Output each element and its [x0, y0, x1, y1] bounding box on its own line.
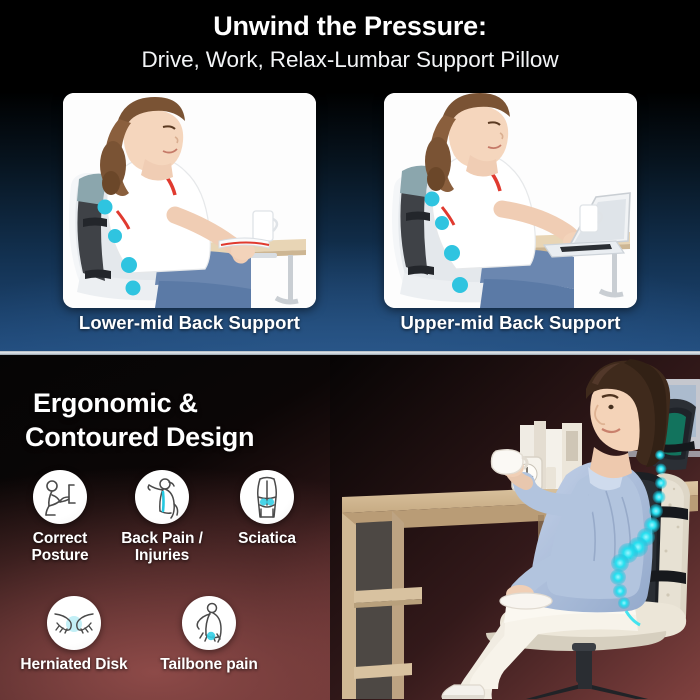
product-infographic: Unwind the Pressure: Drive, Work, Relax-… [0, 0, 700, 700]
benefits-grid: Correct Posture [0, 470, 340, 695]
spine-dot [121, 257, 137, 273]
benefit-label: Tailbone pain [148, 656, 270, 673]
spine-dot [108, 229, 122, 243]
benefit-label: Herniated Disk [16, 656, 132, 673]
photo-card-lower-mid [63, 93, 316, 308]
benefit-label: Sciatica [222, 530, 312, 547]
caption-lower-mid: Lower-mid Back Support [63, 312, 316, 334]
spine-dot [126, 281, 141, 296]
back-pain-icon [135, 470, 189, 524]
top-panel: Unwind the Pressure: Drive, Work, Relax-… [0, 0, 700, 353]
benefit-herniated-disk: Herniated Disk [16, 596, 132, 673]
spine-dot [98, 200, 113, 215]
benefit-label: Correct Posture [14, 530, 106, 565]
upper-mid-back-photo [384, 93, 637, 308]
ergonomic-title-line1: Ergonomic & [33, 388, 198, 418]
lifestyle-scene [330, 355, 700, 700]
herniated-disk-icon [47, 596, 101, 650]
benefit-label: Back Pain / Injuries [110, 530, 214, 565]
page-subheadline: Drive, Work, Relax-Lumbar Support Pillow [0, 47, 700, 73]
page-headline: Unwind the Pressure: [0, 11, 700, 42]
photo-card-upper-mid [384, 93, 637, 308]
spine-dot [435, 216, 449, 230]
section-divider [0, 351, 700, 355]
spine-dot [425, 192, 440, 207]
sciatica-icon [240, 470, 294, 524]
ergonomic-title-line2: Contoured Design [25, 420, 363, 454]
benefit-correct-posture: Correct Posture [14, 470, 106, 565]
benefit-sciatica: Sciatica [222, 470, 312, 547]
spine-dot [452, 277, 468, 293]
lower-mid-back-photo [63, 93, 316, 308]
ergonomic-title: Ergonomic & Contoured Design [33, 386, 363, 454]
spine-dot [444, 245, 460, 261]
woman-at-desk-illustration [330, 355, 700, 700]
tailbone-pain-icon [182, 596, 236, 650]
photo-row [0, 93, 700, 308]
seated-posture-icon [33, 470, 87, 524]
caption-upper-mid: Upper-mid Back Support [384, 312, 637, 334]
benefit-back-pain: Back Pain / Injuries [110, 470, 214, 565]
benefit-tailbone-pain: Tailbone pain [148, 596, 270, 673]
